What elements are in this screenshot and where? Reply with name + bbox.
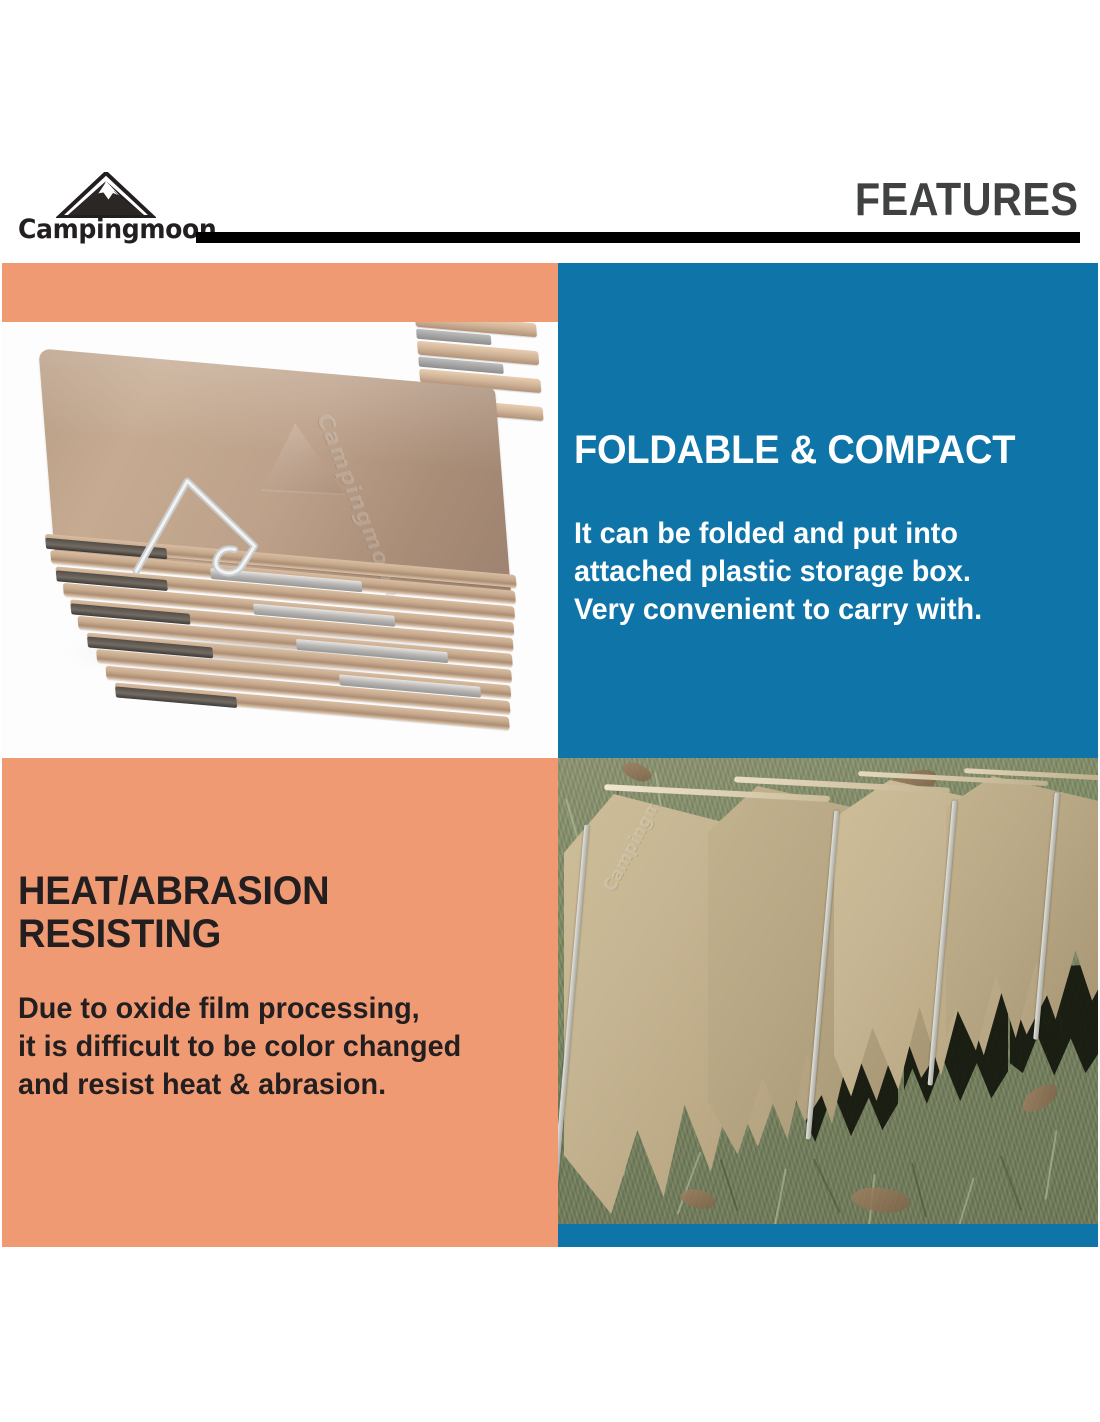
photo-backdrop: Campingmoon [2,322,558,758]
header-rule-divider [196,232,1080,243]
feature-heading-line: HEAT/ABRASION [18,870,329,913]
folded-windscreen-photo: Campingmoon [2,322,558,758]
page-header: Campingmoon FEATURES [0,0,1100,263]
grass-backdrop: Campingmoon [558,758,1098,1224]
bottom-accent-strip [558,1224,1098,1247]
top-accent-band [2,263,558,322]
feature-panel-heat-abrasion: HEAT/ABRASION RESISTING Due to oxide fil… [2,758,558,1247]
feature-heading-line: RESISTING [18,913,329,956]
feature-page: Campingmoon FEATURES [0,0,1100,1422]
feature-body-line: and resist heat & abrasion. [18,1066,527,1104]
feature-body-line: Very convenient to carry with. [574,591,1069,629]
folded-windscreen-illustration: Campingmoon [2,322,558,758]
mountain-logo-icon [56,172,156,218]
page-title: FEATURES [854,176,1078,222]
panel-top-edge [604,784,830,802]
brand-wordmark: Campingmoon [18,216,178,243]
feature-heading-foldable-compact: FOLDABLE & COMPACT [574,429,1015,471]
feature-body-line: it is difficult to be color changed [18,1028,527,1066]
unfolded-windscreen-grass-photo: Campingmoon [558,758,1098,1224]
brand-logo: Campingmoon [18,172,190,250]
feature-heading-heat-abrasion: HEAT/ABRASION RESISTING [18,870,329,956]
feature-body-heat-abrasion: Due to oxide film processing, it is diff… [18,990,527,1104]
embossed-brand-text: Campingmoon [600,780,674,895]
feature-body-foldable-compact: It can be folded and put into attached p… [574,515,1069,629]
feature-panel-foldable-compact: FOLDABLE & COMPACT It can be folded and … [558,263,1098,758]
windscreen-panel-row: Campingmoon [558,758,1098,1224]
wire-hook-icon [115,445,325,590]
feature-body-line: It can be folded and put into [574,515,1069,553]
feature-body-line: attached plastic storage box. [574,553,1069,591]
feature-body-line: Due to oxide film processing, [18,990,527,1028]
